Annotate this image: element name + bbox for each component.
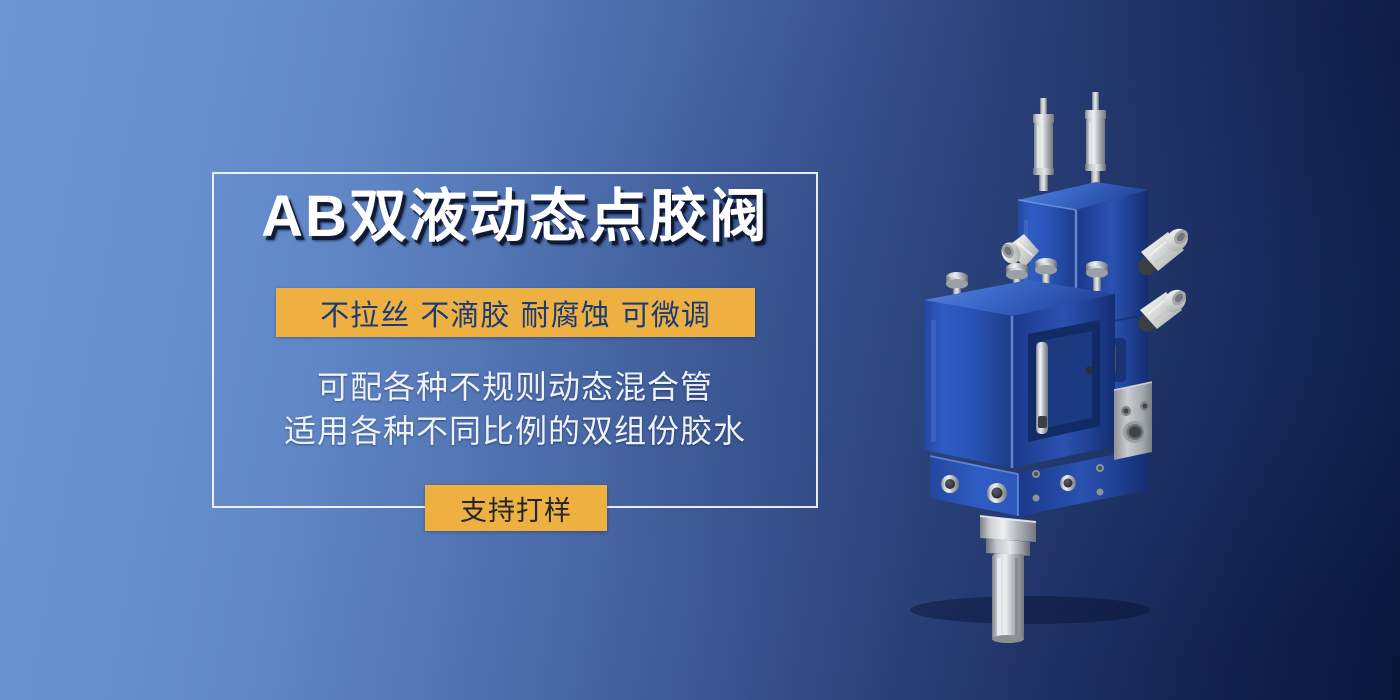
product-shadow: [910, 596, 1150, 624]
features-badge-label: 不拉丝 不滴胶 耐腐蚀 可微调: [320, 292, 711, 334]
sample-support-badge: 支持打样: [425, 485, 607, 531]
subtitle-line-2: 适用各种不同比例的双组份胶水: [212, 409, 818, 453]
sample-support-badge-label: 支持打样: [460, 489, 572, 528]
page-title: AB双液动态点胶阀: [212, 186, 818, 249]
adjustment-cylinder-left: [1033, 98, 1054, 191]
metal-mounting-plate: [1114, 382, 1152, 460]
subtitle-line-1: 可配各种不规则动态混合管: [212, 365, 818, 409]
promo-banner: AB双液动态点胶阀 不拉丝 不滴胶 耐腐蚀 可微调 可配各种不规则动态混合管 适…: [0, 0, 1400, 700]
subtitle-block: 可配各种不规则动态混合管 适用各种不同比例的双组份胶水: [212, 365, 818, 453]
features-badge: 不拉丝 不滴胶 耐腐蚀 可微调: [276, 288, 755, 337]
product-image-dispensing-valve: [900, 70, 1230, 630]
adjustment-cylinder-right: [1085, 92, 1106, 189]
